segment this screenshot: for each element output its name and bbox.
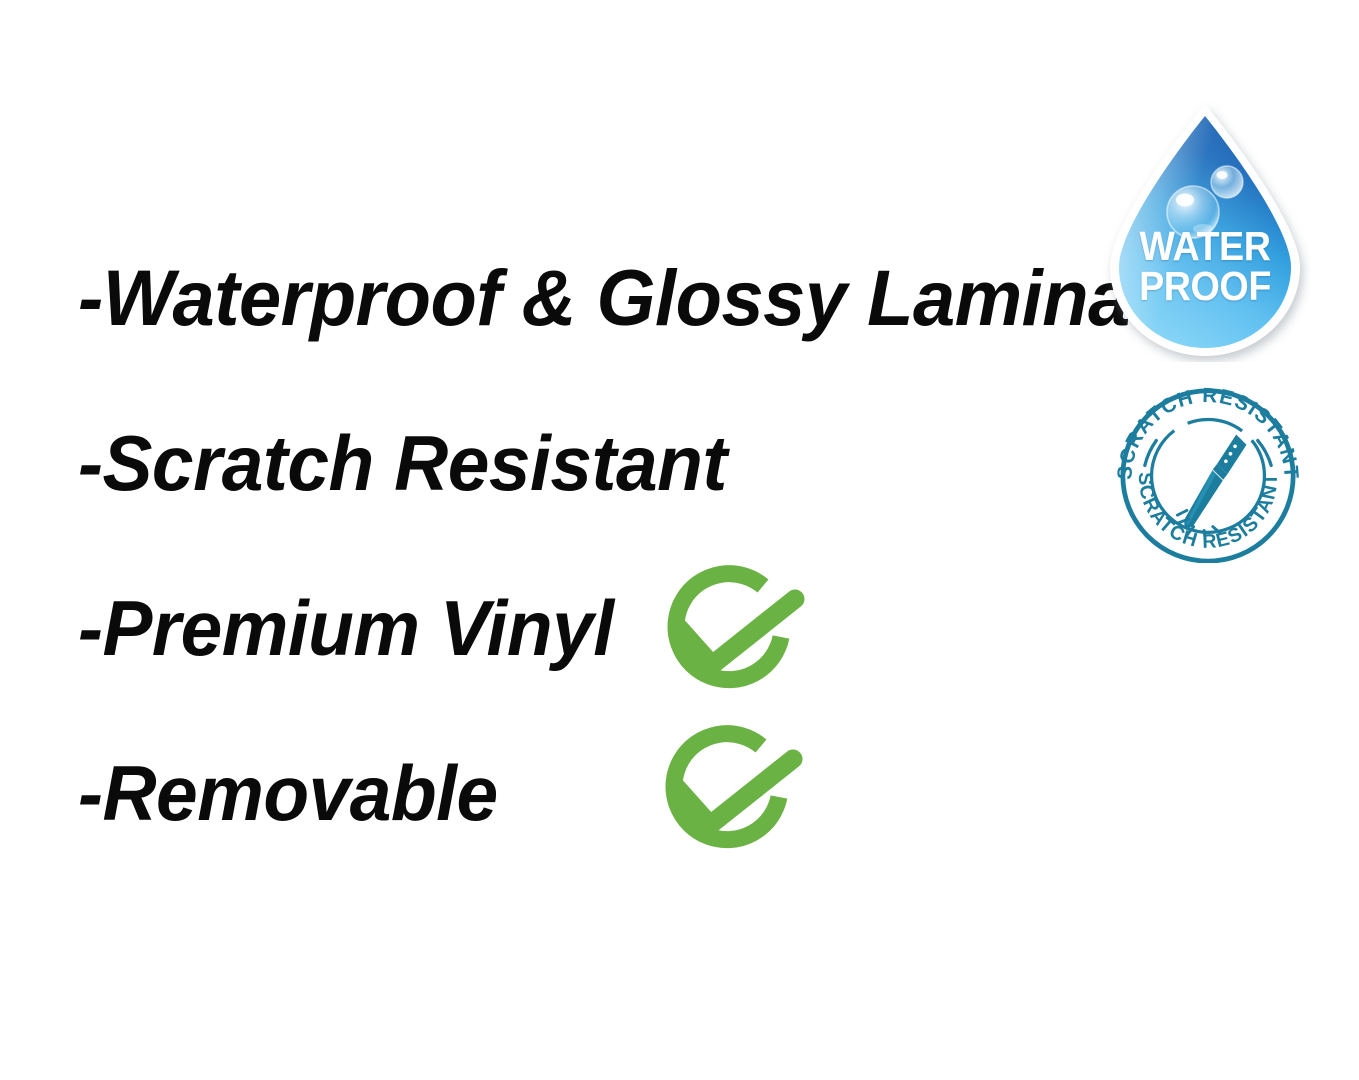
feature-label: -Removable: [78, 743, 498, 843]
feature-label: -Premium Vinyl: [78, 578, 614, 678]
feature-item-scratch-resistant: -Scratch Resistant: [78, 413, 1098, 578]
feature-label: -Scratch Resistant: [78, 413, 727, 513]
waterproof-badge: WATER PROOF: [1100, 100, 1310, 362]
feature-label: -Waterproof & Glossy Laminated: [78, 248, 1242, 348]
feature-item-removable: -Removable: [78, 743, 1098, 908]
scratch-resistant-stamp-icon: SCRATCH RESISTANT SCRATCH RESISTANT: [1112, 385, 1304, 563]
check-circle-icon: [638, 718, 828, 868]
feature-item-waterproof: -Waterproof & Glossy Laminated: [78, 248, 1098, 413]
check-mark-removable: [638, 718, 828, 868]
product-feature-graphic: -Waterproof & Glossy Laminated -Scratch …: [0, 0, 1359, 1080]
scratch-top-text: SCRATCH RESISTANT: [1113, 385, 1303, 481]
scratch-resistant-badge: SCRATCH RESISTANT SCRATCH RESISTANT: [1112, 385, 1304, 563]
check-mark-premium-vinyl: [640, 558, 830, 708]
feature-item-premium-vinyl: -Premium Vinyl: [78, 578, 1098, 743]
check-circle-icon: [640, 558, 830, 708]
feature-list: -Waterproof & Glossy Laminated -Scratch …: [78, 248, 1098, 908]
water-drop-icon: [1100, 100, 1310, 362]
